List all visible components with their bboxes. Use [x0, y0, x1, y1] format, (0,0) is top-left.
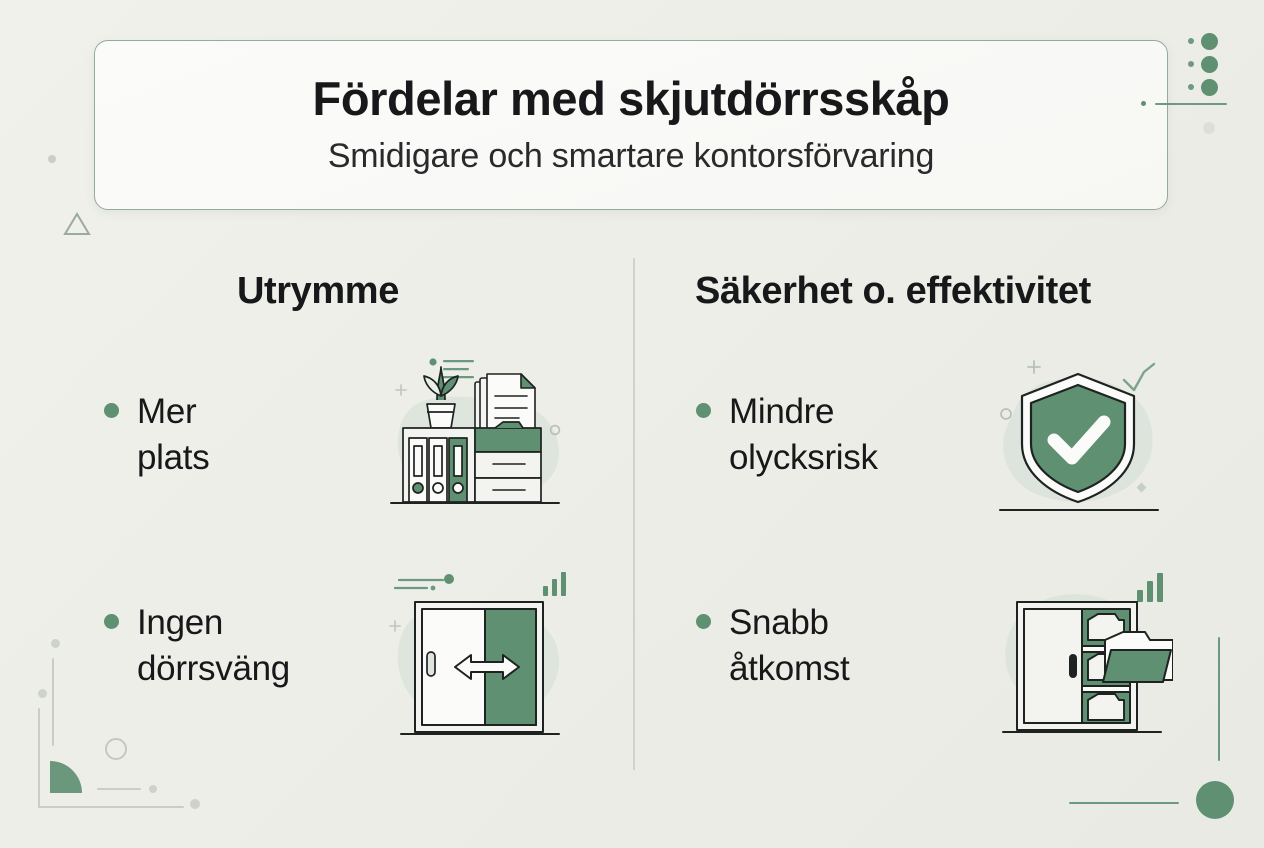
- triangle-icon: [62, 210, 92, 238]
- page-subtitle: Smidigare och smartare kontorsförvaring: [95, 137, 1167, 176]
- decor-dot-bl-1: [51, 639, 60, 648]
- decor-dot-tr-4: [1203, 122, 1215, 134]
- column-heading-sakerhet: Säkerhet o. effektivitet: [695, 270, 1091, 313]
- page-title: Fördelar med skjutdörrsskåp: [95, 71, 1167, 126]
- decor-dot-bl-3: [149, 785, 157, 793]
- decor-dot-tr-1l: [1201, 33, 1218, 50]
- decor-vline-bl-tall: [52, 658, 54, 746]
- decor-dot-tr-3l: [1201, 79, 1218, 96]
- decor-dot-bl-4: [190, 799, 200, 809]
- decor-dot-top-left: [48, 155, 56, 163]
- column-divider: [633, 258, 635, 770]
- decor-dot-tr-1s: [1188, 38, 1194, 44]
- infographic-canvas: Fördelar med skjutdörrsskåp Smidigare oc…: [0, 0, 1264, 848]
- decor-dot-tr-3s: [1188, 84, 1194, 90]
- decor-bracket-horizontal: [38, 806, 184, 808]
- decor-dot-tr-2l: [1201, 56, 1218, 73]
- decor-bracket-vertical: [38, 708, 40, 808]
- bullet-dot-icon: [696, 403, 711, 418]
- decor-ring-bl: [105, 738, 127, 760]
- benefit-label: Mindre olycksrisk: [729, 389, 878, 481]
- decor-hline-bl: [97, 788, 141, 790]
- bullet-dot-icon: [104, 403, 119, 418]
- header-card: Fördelar med skjutdörrsskåp Smidigare oc…: [94, 40, 1168, 210]
- benefit-label: Snabb åtkomst: [729, 600, 849, 692]
- decor-vline-br: [1218, 637, 1220, 761]
- quarter-circle-shape: [50, 761, 82, 793]
- column-heading-utrymme: Utrymme: [237, 270, 399, 313]
- open-cabinet-folder-illustration: [995, 562, 1173, 747]
- shield-check-illustration: [988, 352, 1170, 524]
- bullet-dot-icon: [104, 614, 119, 629]
- decor-dot-tr-2s: [1188, 61, 1194, 67]
- bullet-dot-icon: [696, 614, 711, 629]
- office-storage-illustration: [383, 352, 573, 524]
- benefit-label: Ingen dörrsväng: [137, 600, 290, 692]
- sliding-door-cabinet-illustration: [385, 562, 575, 747]
- benefit-label: Mer plats: [137, 389, 209, 481]
- decor-dot-bl-2: [38, 689, 47, 698]
- decor-circle-br: [1196, 781, 1234, 819]
- decor-hline-br: [1069, 802, 1179, 804]
